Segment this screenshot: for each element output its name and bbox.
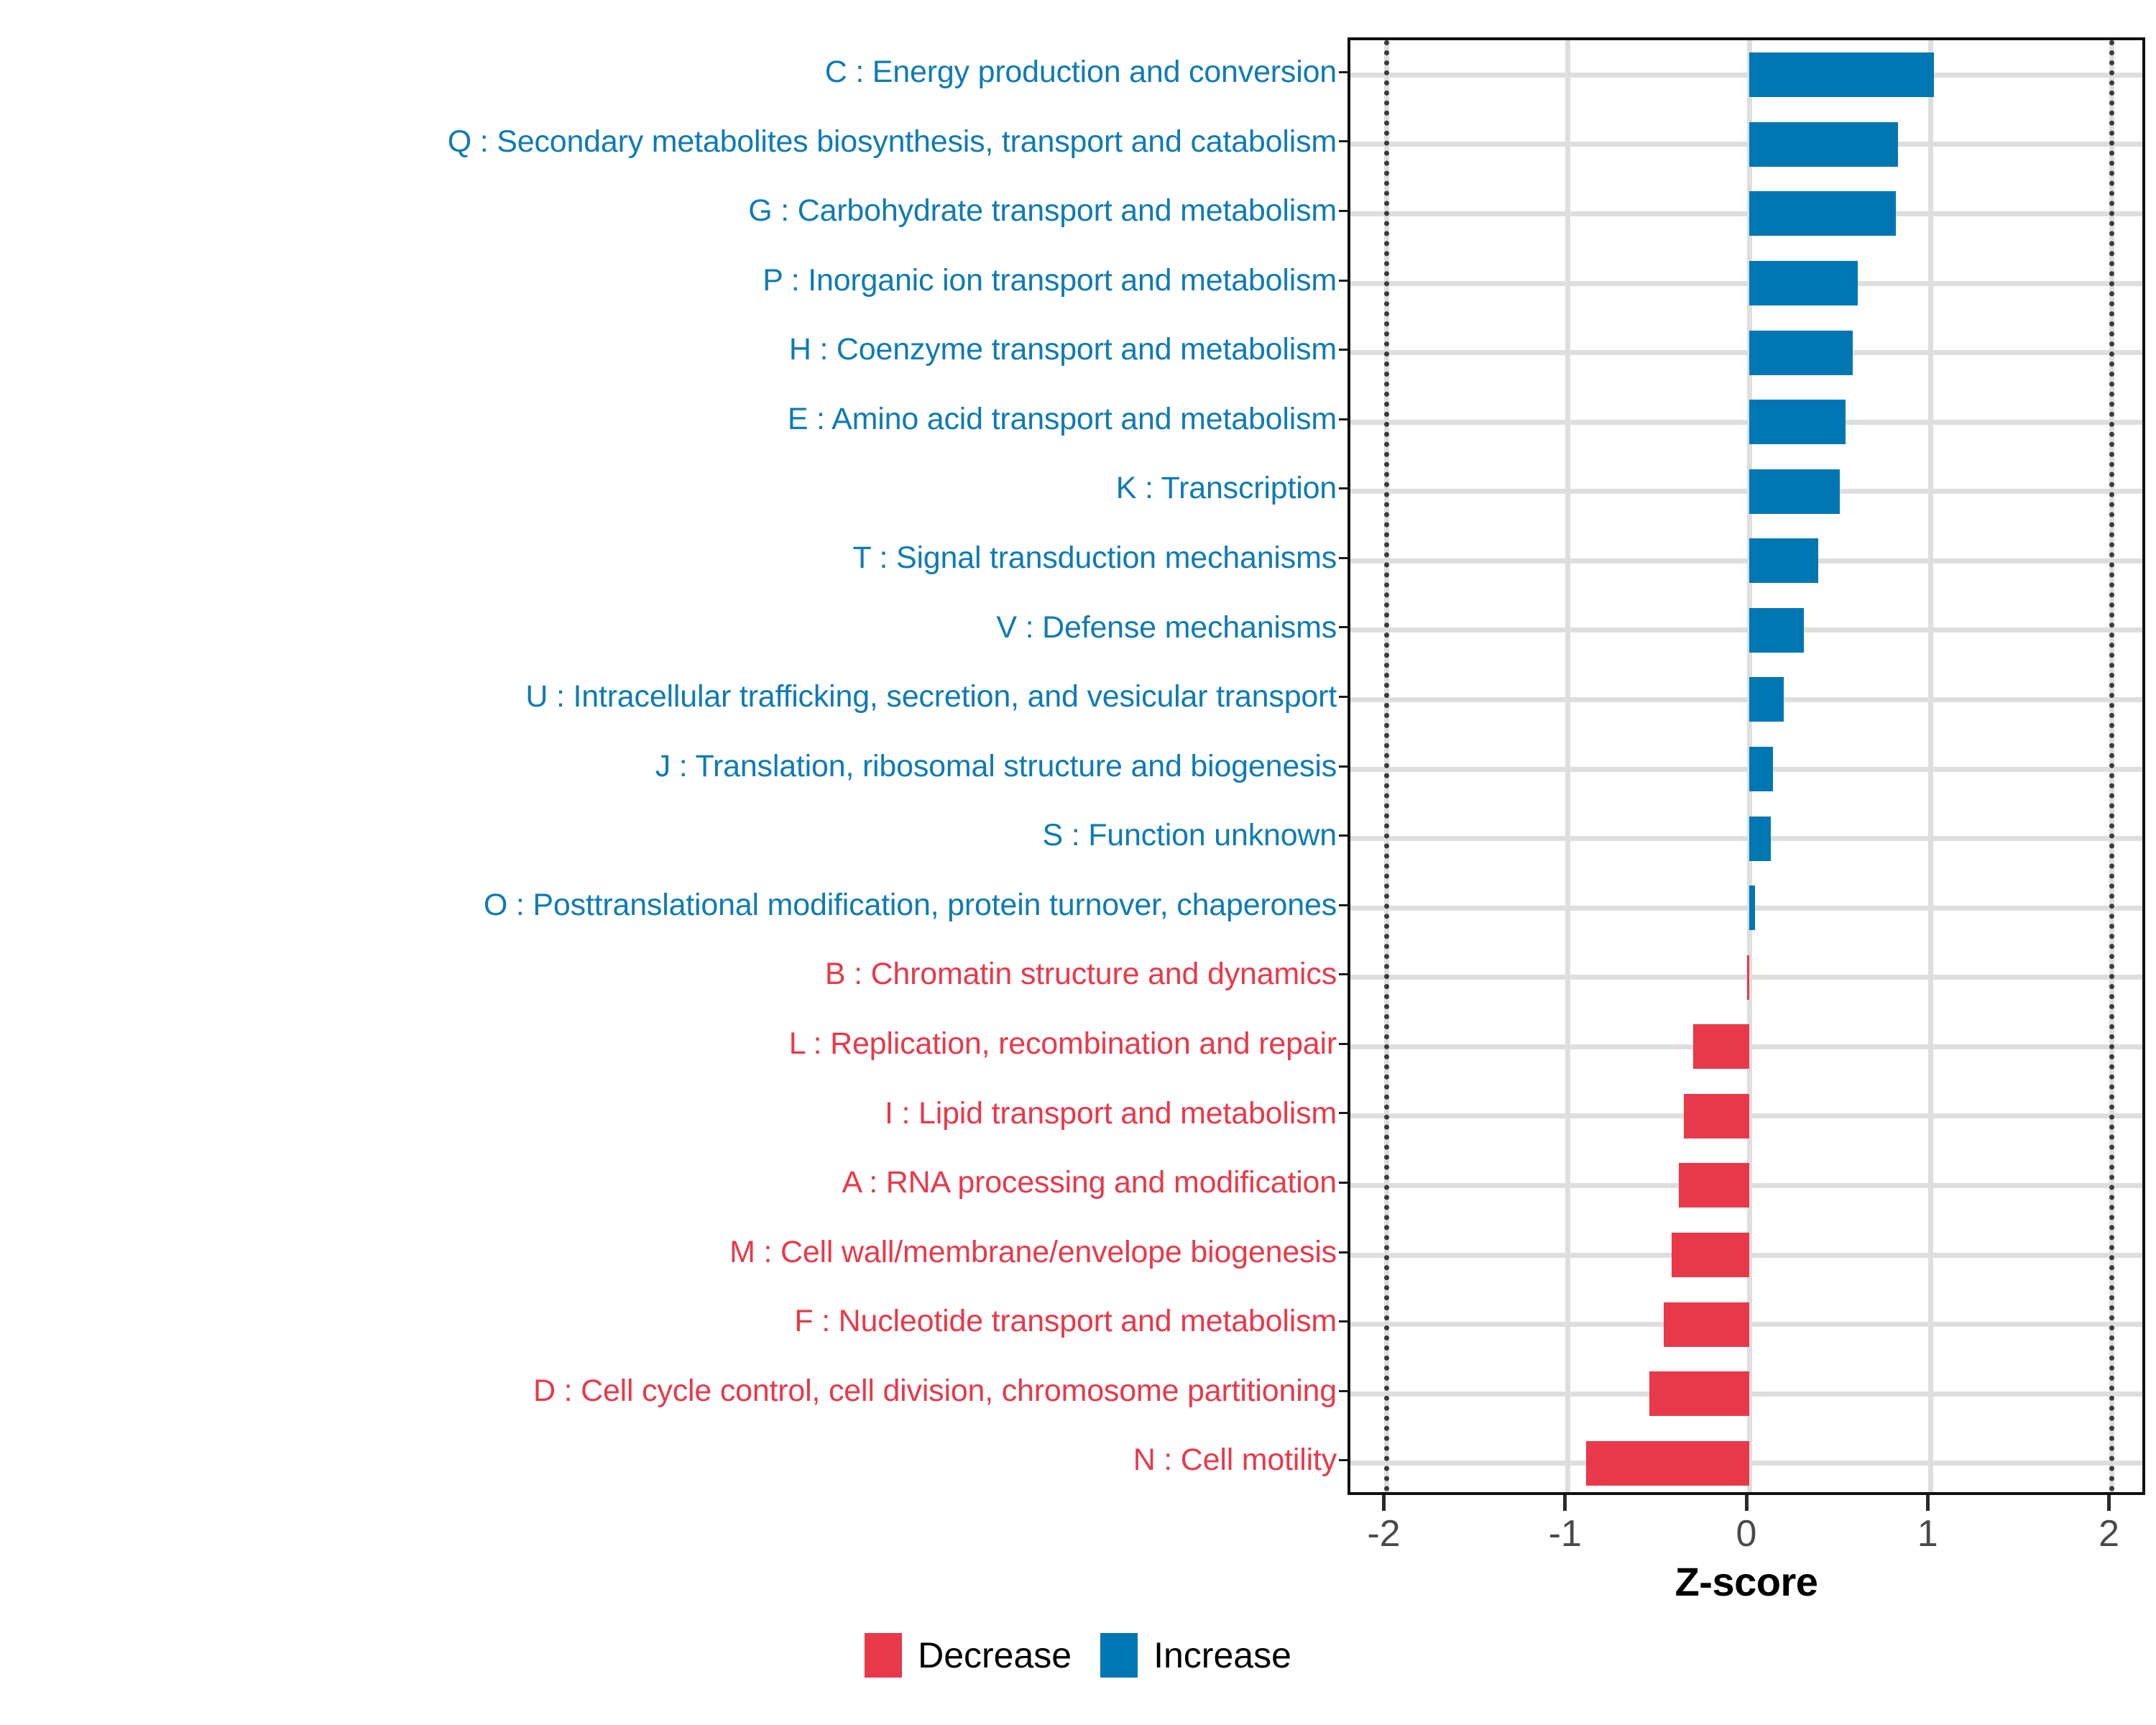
reference-line: [2109, 40, 2114, 1492]
y-axis-label: Q : Secondary metabolites biosynthesis, …: [448, 107, 1337, 177]
bar: [1693, 1024, 1749, 1069]
legend-swatch: [865, 1633, 902, 1678]
y-axis-label: B : Chromatin structure and dynamics: [825, 939, 1337, 1009]
y-axis-tick: [1339, 280, 1347, 282]
bar: [1672, 1233, 1749, 1277]
y-axis-label: O : Posttranslational modification, prot…: [484, 870, 1337, 940]
y-axis-label: T : Signal transduction mechanisms: [852, 523, 1337, 593]
bar: [1749, 885, 1755, 930]
x-axis-tick-label: 2: [2052, 1512, 2156, 1555]
plot-panel-inner: [1350, 40, 2142, 1492]
gridline-vertical: [1928, 40, 1933, 1492]
bar: [1749, 816, 1771, 861]
y-axis-tick: [1339, 418, 1347, 420]
y-axis-tick: [1339, 1043, 1347, 1045]
y-axis-label: H : Coenzyme transport and metabolism: [789, 315, 1337, 385]
x-axis-tick-label: 0: [1689, 1512, 1804, 1555]
y-axis-label: F : Nucleotide transport and metabolism: [794, 1287, 1337, 1356]
x-axis-tick-label: -2: [1326, 1512, 1441, 1555]
bar: [1749, 400, 1846, 444]
y-axis-tick: [1339, 1320, 1347, 1322]
bar: [1749, 538, 1818, 583]
y-axis-tick: [1339, 71, 1347, 73]
legend-swatch: [1100, 1633, 1138, 1678]
y-axis-tick: [1339, 349, 1347, 351]
y-axis-tick: [1339, 696, 1347, 698]
bar: [1749, 608, 1804, 653]
y-axis-tick: [1339, 210, 1347, 212]
y-axis-label: P : Inorganic ion transport and metaboli…: [763, 246, 1337, 316]
y-axis-label: L : Replication, recombination and repai…: [789, 1009, 1337, 1079]
bar: [1684, 1094, 1749, 1138]
y-axis-label: I : Lipid transport and metabolism: [885, 1079, 1337, 1149]
bar: [1749, 191, 1896, 236]
y-axis-label: G : Carbohydrate transport and metabolis…: [748, 176, 1337, 246]
bar: [1586, 1441, 1749, 1486]
x-axis-tick: [1745, 1495, 1749, 1511]
x-axis-tick: [1563, 1495, 1567, 1511]
bar: [1749, 677, 1784, 722]
y-axis-tick: [1339, 904, 1347, 906]
legend-item[interactable]: Increase: [1100, 1633, 1291, 1678]
y-axis-tick: [1339, 973, 1347, 975]
cog-zscore-bar-chart: C : Energy production and conversionQ : …: [0, 0, 2156, 1725]
bar: [1649, 1371, 1749, 1416]
legend-label: Decrease: [918, 1637, 1072, 1673]
y-axis-tick: [1339, 834, 1347, 837]
x-axis-tick: [2107, 1495, 2111, 1511]
y-axis-label: S : Function unknown: [1042, 801, 1337, 870]
x-axis-tick: [1382, 1495, 1386, 1511]
y-axis-tick: [1339, 557, 1347, 559]
y-axis-category-labels: C : Energy production and conversionQ : …: [0, 37, 1337, 1495]
x-axis-tick-label: 1: [1870, 1512, 1985, 1555]
plot-panel: [1347, 37, 2145, 1495]
x-axis-title: Z-score: [1347, 1558, 2145, 1605]
reference-line: [1384, 40, 1389, 1492]
y-axis-tick: [1339, 1390, 1347, 1392]
bar: [1747, 955, 1749, 1000]
y-axis-tick: [1339, 140, 1347, 142]
y-axis-label: V : Defense mechanisms: [996, 593, 1337, 663]
bar: [1749, 261, 1858, 305]
x-axis-tick-label: -1: [1508, 1512, 1623, 1555]
bar: [1749, 52, 1934, 97]
y-axis-tick: [1339, 626, 1347, 628]
y-axis-label: D : Cell cycle control, cell division, c…: [533, 1356, 1337, 1426]
bar: [1749, 122, 1898, 167]
y-axis-label: M : Cell wall/membrane/envelope biogenes…: [729, 1218, 1337, 1287]
bar: [1679, 1163, 1749, 1207]
y-axis-tick: [1339, 1251, 1347, 1253]
y-axis-label: N : Cell motility: [1133, 1425, 1337, 1495]
y-axis-tick: [1339, 1459, 1347, 1461]
x-axis-tick: [1926, 1495, 1930, 1511]
bar: [1664, 1302, 1749, 1347]
y-axis-label: C : Energy production and conversion: [825, 37, 1337, 107]
y-axis-tick: [1339, 765, 1347, 768]
y-axis-label: K : Transcription: [1116, 454, 1337, 523]
y-axis-tick: [1339, 487, 1347, 489]
legend-label: Increase: [1153, 1637, 1291, 1673]
y-axis-tick: [1339, 1112, 1347, 1114]
y-axis-label: A : RNA processing and modification: [842, 1148, 1337, 1218]
gridline-vertical: [1565, 40, 1570, 1492]
bar: [1749, 331, 1853, 375]
y-axis-label: E : Amino acid transport and metabolism: [788, 385, 1337, 454]
bar: [1749, 747, 1773, 791]
y-axis-label: U : Intracellular trafficking, secretion…: [525, 662, 1337, 732]
y-axis-label: J : Translation, ribosomal structure and…: [655, 732, 1337, 801]
legend-item[interactable]: Decrease: [865, 1633, 1072, 1678]
y-axis-tick: [1339, 1182, 1347, 1184]
chart-legend: DecreaseIncrease: [0, 1633, 2156, 1678]
bar: [1749, 469, 1840, 514]
